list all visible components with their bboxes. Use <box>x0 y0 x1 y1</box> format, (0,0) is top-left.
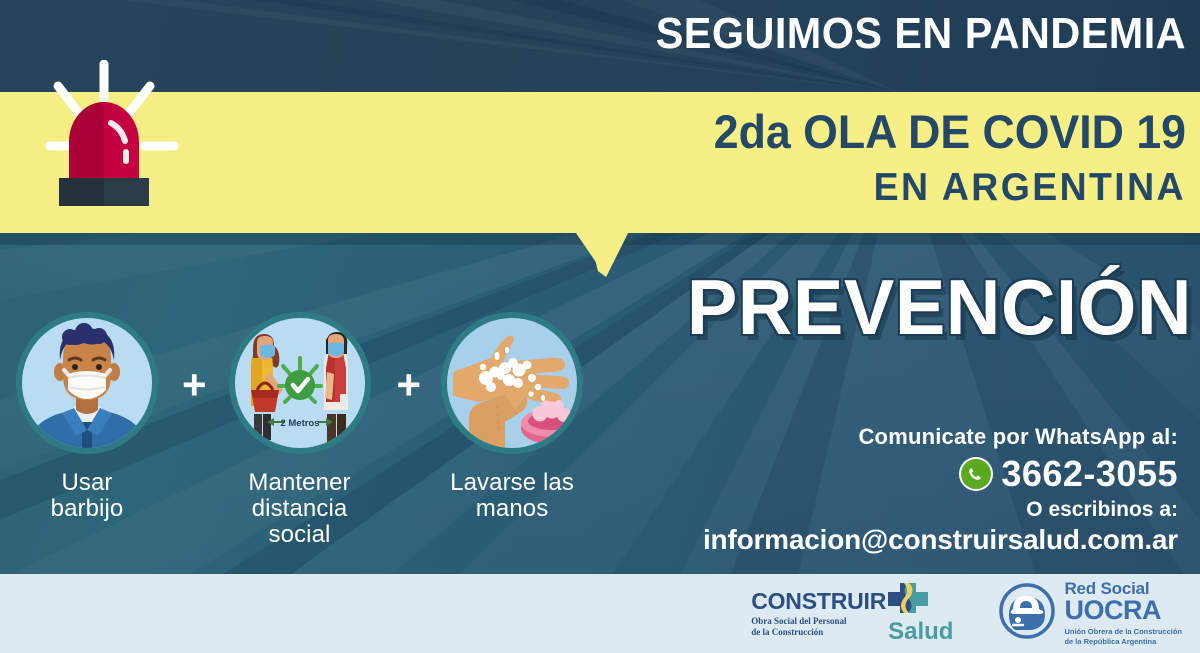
prevention-measures-row: Usar barbijo + <box>14 310 594 560</box>
headline-seguimos-en-pandemia: SEGUIMOS EN PANDEMIA <box>579 12 1186 56</box>
person-wearing-mask-icon <box>14 310 160 456</box>
label-line-2: barbijo <box>51 495 124 522</box>
construir-salud-mark: Salud <box>888 583 953 644</box>
label-line-1: Usar <box>61 469 112 496</box>
construir-tagline-line-1: Obra Social del Personal <box>751 616 846 627</box>
contact-email[interactable]: informacion@construirsalud.com.ar <box>558 524 1178 556</box>
construir-tagline-line-2: de la Construcción <box>751 627 823 638</box>
logo-construir-salud: CONSTRUIR Obra Social del Personal de la… <box>751 583 953 644</box>
uocra-tagline-line-1: Unión Obrera de la Construcción <box>1064 627 1182 637</box>
headline-en-argentina: EN ARGENTINA <box>527 168 1186 207</box>
email-prompt: O escribinos a: <box>558 498 1178 522</box>
headline-2da-ola-covid: 2da OLA DE COVID 19 <box>534 108 1186 155</box>
whatsapp-phone-row[interactable]: 3662-3055 <box>558 456 1178 492</box>
label-line-1: Mantener <box>248 469 350 496</box>
whatsapp-prompt: Comunicate por WhatsApp al: <box>558 424 1178 450</box>
poster-canvas: SEGUIMOS EN PANDEMIA 2da OLA DE COVID 19… <box>0 0 1200 653</box>
social-distancing-icon: 2 Metros <box>227 310 373 456</box>
prevention-item-distance: 2 Metros Mantener distancia social <box>227 310 373 548</box>
logo-red-social-uocra: Red Social UOCRA Unión Obrera de la Cons… <box>999 580 1182 647</box>
prevention-item-mask: Usar barbijo <box>14 310 160 522</box>
construir-salud-wordmark: CONSTRUIR Obra Social del Personal de la… <box>751 590 886 638</box>
label-line-3: social <box>269 521 331 548</box>
whatsapp-icon <box>959 457 993 491</box>
emergency-siren-icon <box>24 60 214 240</box>
uocra-wordmark: Red Social UOCRA Unión Obrera de la Cons… <box>1064 580 1182 647</box>
label-line-1: Lavarse las <box>450 469 574 496</box>
footer-bar: CONSTRUIR Obra Social del Personal de la… <box>0 574 1200 653</box>
salud-word: Salud <box>888 620 953 644</box>
label-line-2: manos <box>476 495 549 522</box>
label-line-2: distancia <box>252 495 348 522</box>
medical-cross-icon <box>888 583 928 618</box>
uocra-line: UOCRA <box>1064 597 1182 624</box>
prevention-label-handwash: Lavarse las manos <box>450 470 574 522</box>
whatsapp-number[interactable]: 3662-3055 <box>1001 456 1178 492</box>
plus-separator-1: + <box>172 364 217 406</box>
distance-label: 2 Metros <box>280 418 319 429</box>
prevention-label-distance: Mantener distancia social <box>248 470 350 548</box>
worker-helmet-icon <box>999 583 1055 644</box>
construir-word: CONSTRUIR <box>751 590 886 613</box>
contact-block: Comunicate por WhatsApp al: 3662-3055 O … <box>558 424 1178 556</box>
plus-separator-2: + <box>387 364 432 406</box>
prevention-label-mask: Usar barbijo <box>51 470 124 522</box>
section-title-prevencion: PREVENCIÓN <box>618 268 1192 346</box>
uocra-tagline-line-2: de la República Argentina <box>1064 637 1182 647</box>
